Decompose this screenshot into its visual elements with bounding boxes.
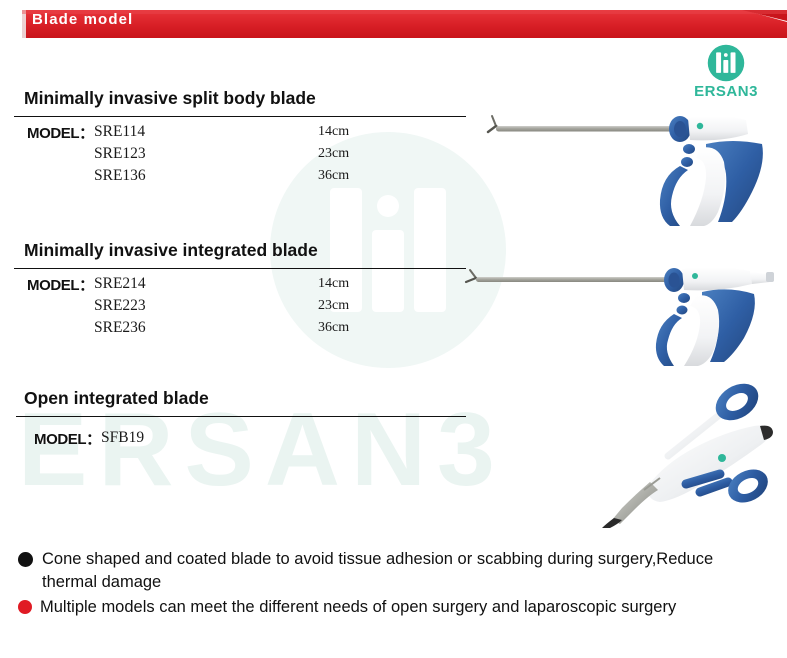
list-item: Multiple models can meet the different n… (0, 596, 740, 619)
section-divider (14, 116, 466, 117)
brand-logo: ERSAN3 (685, 44, 767, 100)
model-size: 23cm (318, 298, 349, 314)
model-code: SRE123 (94, 145, 146, 163)
product-image-open-scissor-instrument (590, 378, 787, 528)
open-surgery-scissor-instrument-icon (590, 378, 787, 528)
spec-table: MODEL： SRE214 14cm SRE223 23cm SRE236 36… (0, 274, 470, 340)
table-row: MODEL： SRE214 14cm (0, 274, 470, 296)
ersan-circle-logo-icon (707, 44, 745, 82)
model-code: SRE236 (94, 319, 146, 337)
laparoscopic-integrated-instrument-icon (462, 256, 782, 366)
brand-name: ERSAN3 (685, 83, 767, 100)
table-row: SRE123 23cm (0, 144, 470, 166)
page-title: Blade model (32, 11, 133, 28)
model-code: SRE223 (94, 297, 146, 315)
model-label: MODEL： (27, 122, 94, 143)
model-code: SRE214 (94, 275, 146, 293)
bullet-black-icon (18, 552, 33, 567)
laparoscopic-split-body-instrument-icon (474, 104, 774, 229)
feature-text: Cone shaped and coated blade to avoid ti… (42, 550, 713, 591)
section-divider (16, 416, 466, 417)
model-size: 14cm (318, 124, 349, 140)
product-image-split-body-instrument (474, 104, 774, 229)
model-size: 14cm (318, 276, 349, 292)
table-row: MODEL： SFB19 (0, 428, 470, 450)
model-size: 36cm (318, 168, 349, 184)
spec-table: MODEL： SRE114 14cm SRE123 23cm SRE136 36… (0, 122, 470, 188)
features-list: Cone shaped and coated blade to avoid ti… (0, 548, 740, 621)
model-code: SFB19 (101, 429, 144, 447)
section-divider (14, 268, 466, 269)
model-label: MODEL： (34, 428, 101, 449)
model-size: 23cm (318, 146, 349, 162)
list-item: Cone shaped and coated blade to avoid ti… (0, 548, 740, 594)
model-code: SRE136 (94, 167, 146, 185)
feature-text: Multiple models can meet the different n… (40, 598, 676, 616)
table-row: SRE236 36cm (0, 318, 470, 340)
table-row: MODEL： SRE114 14cm (0, 122, 470, 144)
table-row: SRE223 23cm (0, 296, 470, 318)
product-image-integrated-instrument (462, 256, 782, 366)
model-code: SRE114 (94, 123, 145, 141)
section-title: Open integrated blade (24, 388, 209, 409)
spec-table: MODEL： SFB19 (0, 428, 470, 450)
section-title: Minimally invasive integrated blade (24, 240, 318, 261)
bullet-red-icon (18, 600, 32, 614)
section-title: Minimally invasive split body blade (24, 88, 316, 109)
model-label: MODEL： (27, 274, 94, 295)
watermark-wordmark: ERSAN3 (18, 398, 598, 502)
model-size: 36cm (318, 320, 349, 336)
table-row: SRE136 36cm (0, 166, 470, 188)
